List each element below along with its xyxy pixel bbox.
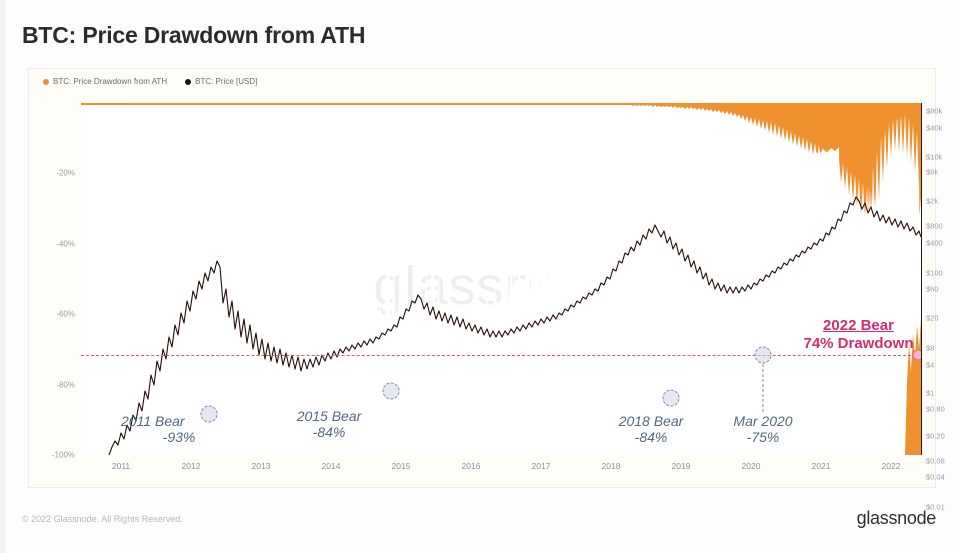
annotation-mar-2020-title: Mar 2020 — [733, 413, 792, 429]
legend-label-drawdown: BTC: Price Drawdown from ATH — [53, 77, 167, 86]
annotation-bear-2011: 2011 Bear -93% — [121, 414, 271, 445]
y-right-tick-4: $2k — [926, 197, 938, 206]
x-tick-2022: 2022 — [882, 461, 901, 471]
legend-item-drawdown[interactable]: BTC: Price Drawdown from ATH — [43, 77, 167, 86]
y-left-tick-0: -20% — [56, 169, 75, 178]
left-accent-rail — [0, 0, 5, 553]
annotation-bear-2015: 2015 Bear -84% — [264, 409, 394, 440]
y-right-tick-16: $0.04 — [926, 473, 945, 482]
marker-bear-2018[interactable] — [663, 390, 680, 407]
y-right-tick-14: $0.20 — [926, 432, 945, 441]
chart-screenshot: BTC: Price Drawdown from ATH BTC: Price … — [0, 0, 960, 553]
y-right-tick-11: $4 — [926, 361, 934, 370]
page-title: BTC: Price Drawdown from ATH — [22, 22, 365, 49]
x-tick-2018: 2018 — [602, 461, 621, 471]
x-tick-2017: 2017 — [532, 461, 551, 471]
legend-item-price[interactable]: BTC: Price [USD] — [185, 77, 257, 86]
x-tick-2011: 2011 — [112, 461, 130, 471]
y-right-tick-6: $400 — [926, 239, 943, 248]
x-tick-2012: 2012 — [182, 461, 201, 471]
y-right-tick-0: $80k — [926, 107, 942, 116]
y-right-tick-13: $0.80 — [926, 405, 945, 414]
y-left-tick-4: -100% — [52, 451, 75, 460]
chart-legend: BTC: Price Drawdown from ATH BTC: Price … — [43, 77, 257, 86]
y-left-tick-3: -80% — [56, 380, 75, 389]
x-tick-2015: 2015 — [392, 461, 411, 471]
y-right-tick-8: $60 — [926, 285, 939, 294]
x-tick-2014: 2014 — [322, 461, 341, 471]
chart-card: BTC: Price Drawdown from ATH BTC: Price … — [28, 68, 936, 488]
drawdown-area-series — [81, 103, 921, 455]
y-right-tick-5: $800 — [926, 222, 943, 231]
y-right-tick-1: $40k — [926, 124, 942, 133]
annotation-bear-2022: 2022 Bear 74% Drawdown — [771, 317, 946, 353]
marker-bear-2015[interactable] — [383, 383, 400, 400]
y-left-tick-2: -60% — [56, 310, 75, 319]
x-axis: 2011 2012 2013 2014 2015 2016 2017 2018 … — [81, 461, 921, 479]
annotation-bear-2022-title: 2022 Bear — [771, 317, 946, 335]
marker-crash-mar-2020[interactable] — [755, 347, 772, 364]
y-right-tick-3: $6k — [926, 168, 938, 177]
legend-dot-icon-drawdown — [43, 79, 49, 85]
annotation-bear-2018-title: 2018 Bear — [619, 413, 684, 429]
x-tick-2016: 2016 — [462, 461, 481, 471]
legend-dot-icon-price — [185, 79, 191, 85]
reference-line-74pct — [81, 355, 921, 356]
x-tick-2019: 2019 — [672, 461, 691, 471]
annotation-bear-2018: 2018 Bear -84% — [586, 414, 716, 445]
x-tick-2020: 2020 — [742, 461, 761, 471]
brand-logo: glassnode — [857, 508, 936, 529]
x-tick-2013: 2013 — [252, 461, 271, 471]
x-tick-2021: 2021 — [812, 461, 831, 471]
y-right-tick-15: $0.08 — [926, 457, 945, 466]
annotation-bear-2011-title: 2011 Bear — [121, 413, 185, 429]
y-left-tick-1: -40% — [56, 239, 75, 248]
y-right-tick-7: $100 — [926, 269, 943, 278]
annotation-bear-2015-title: 2015 Bear — [297, 408, 362, 424]
footer-copyright: © 2022 Glassnode. All Rights Reserved. — [22, 514, 183, 524]
leader-line-mar-2020 — [763, 364, 764, 412]
y-right-tick-2: $10k — [926, 153, 942, 162]
annotation-bear-2022-value: 74% Drawdown — [771, 335, 946, 353]
y-right-tick-12: $1 — [926, 389, 934, 398]
annotation-mar-2020-value: -75% — [698, 430, 828, 446]
annotation-crash-mar-2020: Mar 2020 -75% — [698, 414, 828, 445]
legend-label-price: BTC: Price [USD] — [195, 77, 257, 86]
annotation-bear-2011-value: -93% — [121, 430, 271, 446]
annotation-bear-2018-value: -84% — [586, 430, 716, 446]
y-axis-right: $80k $40k $10k $6k $2k $800 $400 $100 $6… — [926, 103, 960, 455]
plot-area: glassnode — [81, 103, 921, 455]
annotation-bear-2015-value: -84% — [264, 425, 394, 441]
